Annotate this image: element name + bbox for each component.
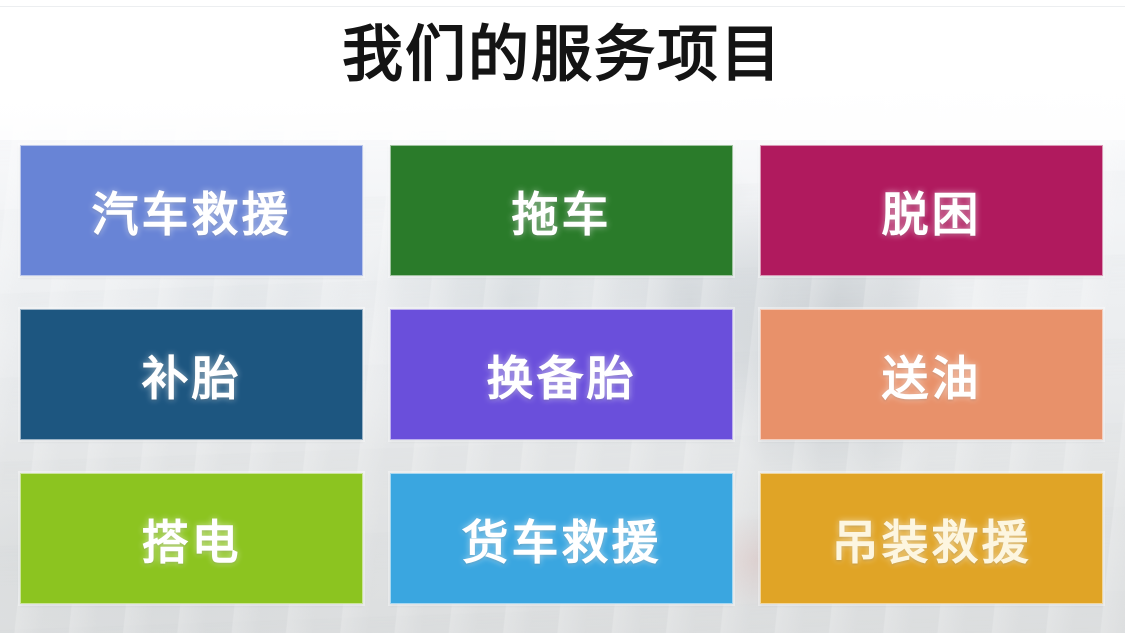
tile-truck-rescue[interactable]: 货车救援 — [390, 473, 733, 604]
tile-towing[interactable]: 拖车 — [390, 145, 733, 276]
service-tile-label: 送油 — [882, 340, 982, 409]
service-tile-label: 脱困 — [882, 176, 982, 245]
top-hairline-divider — [0, 6, 1125, 7]
tile-roadside-assistance[interactable]: 汽车救援 — [20, 145, 363, 276]
service-tile-label: 换备胎 — [487, 340, 637, 409]
page-title: 我们的服务项目 — [0, 22, 1125, 88]
service-tile-label: 吊装救援 — [832, 504, 1032, 573]
service-tile-label: 汽车救援 — [92, 176, 292, 245]
service-tile-label: 拖车 — [512, 176, 612, 245]
service-tile-label: 货车救援 — [462, 504, 662, 573]
service-tile-label: 搭电 — [142, 504, 242, 573]
tile-tire-repair[interactable]: 补胎 — [20, 309, 363, 440]
service-tile-label: 补胎 — [142, 340, 242, 409]
tile-extrication[interactable]: 脱困 — [760, 145, 1103, 276]
tile-crane-rescue[interactable]: 吊装救援 — [760, 473, 1103, 604]
service-tile-grid: 汽车救援拖车脱困补胎换备胎送油搭电货车救援吊装救援 — [20, 145, 1103, 601]
service-poster: 我们的服务项目 汽车救援拖车脱困补胎换备胎送油搭电货车救援吊装救援 — [0, 0, 1125, 633]
tile-fuel-delivery[interactable]: 送油 — [760, 309, 1103, 440]
tile-jump-start[interactable]: 搭电 — [20, 473, 363, 604]
tile-spare-tire-change[interactable]: 换备胎 — [390, 309, 733, 440]
